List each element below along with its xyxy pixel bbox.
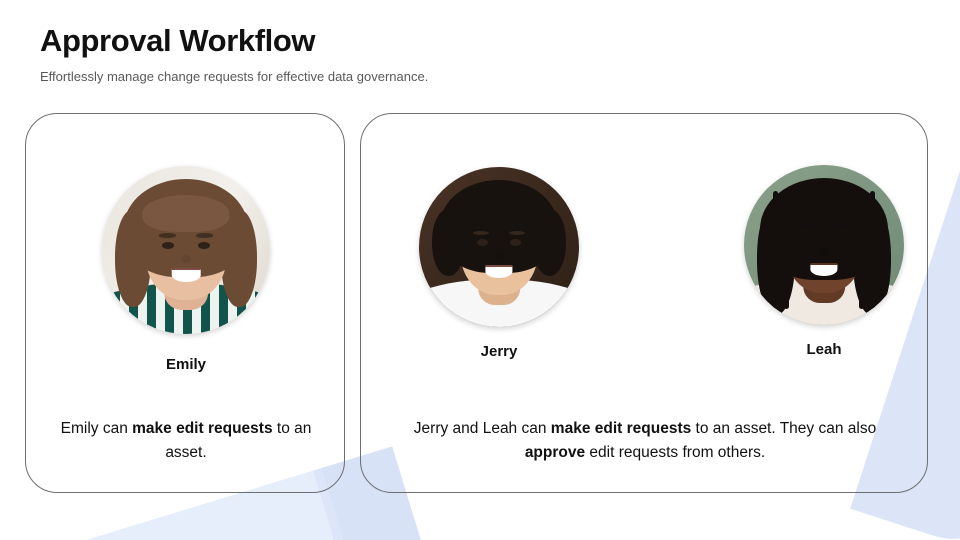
braids-detail [744, 165, 904, 325]
person-emily[interactable]: Emily [26, 166, 346, 374]
slide-canvas: Approval Workflow Effortlessly manage ch… [0, 0, 960, 540]
card-approver[interactable]: Jerry [360, 113, 928, 493]
avatar-leah [744, 165, 904, 325]
avatar-emily [102, 166, 270, 334]
person-name-emily: Emily [26, 356, 346, 374]
caption-approver: Jerry and Leah can make edit requests to… [385, 417, 905, 465]
caption-part: edit requests from others. [585, 444, 765, 461]
caption-requester: Emily can make edit requests to an asset… [50, 417, 322, 465]
page-subtitle: Effortlessly manage change requests for … [40, 68, 740, 85]
header: Approval Workflow Effortlessly manage ch… [40, 22, 740, 85]
avatar-jerry [419, 167, 579, 327]
caption-part: Emily can [61, 420, 133, 437]
caption-part-bold: make edit requests [132, 420, 272, 437]
caption-part: Jerry and Leah can [414, 420, 551, 437]
person-name-jerry: Jerry [379, 343, 619, 361]
card-requester[interactable]: Emily Emily can make edit requests to an… [25, 113, 345, 493]
caption-part: to an asset. They can also [691, 420, 876, 437]
caption-part-bold: make edit requests [551, 420, 691, 437]
caption-part-bold: approve [525, 444, 585, 461]
person-jerry[interactable]: Jerry [379, 167, 619, 361]
person-leah[interactable]: Leah [704, 165, 944, 359]
page-title: Approval Workflow [40, 22, 740, 60]
person-name-leah: Leah [704, 341, 944, 359]
